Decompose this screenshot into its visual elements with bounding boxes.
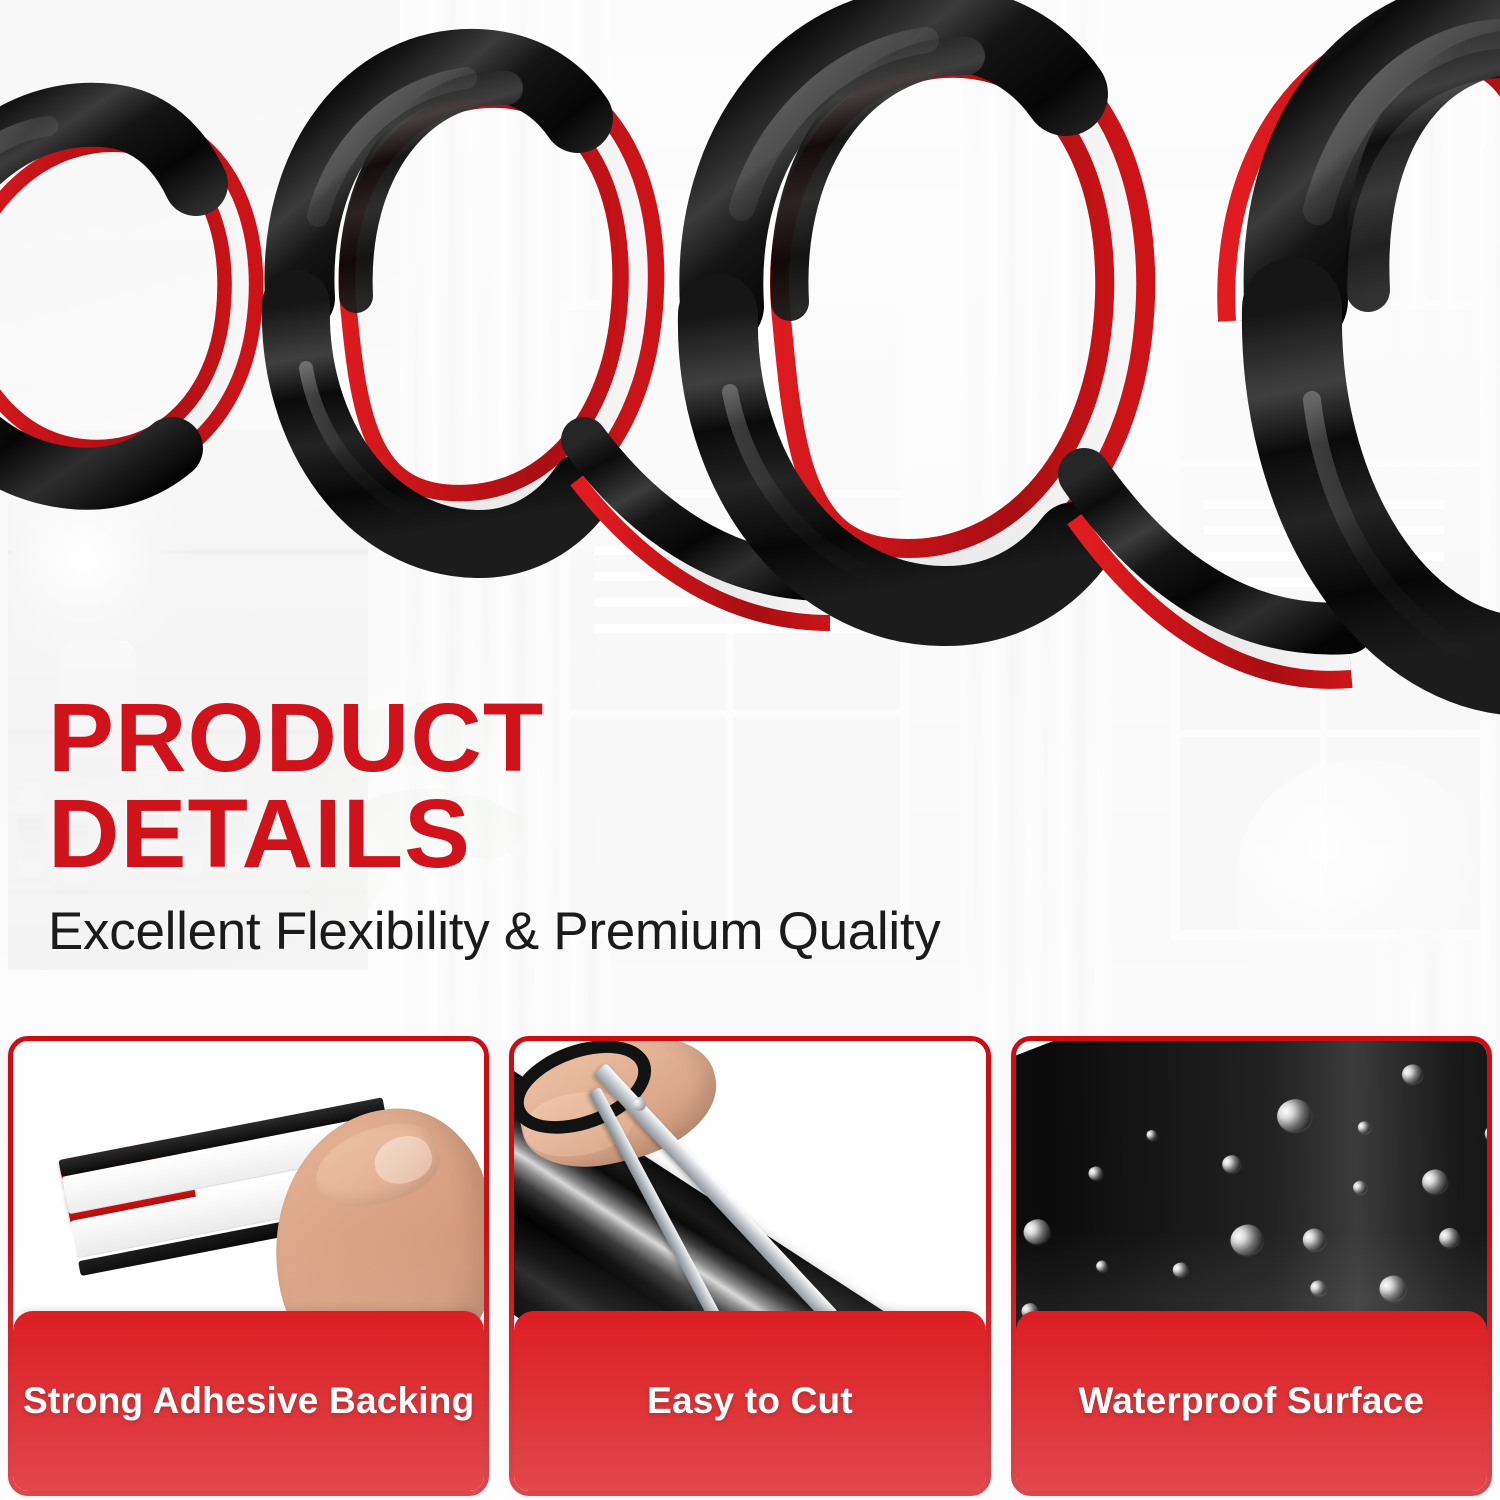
page-title: PRODUCT DETAILS (48, 690, 1252, 882)
water-droplet (1219, 1153, 1242, 1175)
water-droplet (1020, 1216, 1053, 1248)
water-droplet (1145, 1129, 1158, 1142)
water-droplet (1436, 1225, 1461, 1250)
feature-panel-easy-to-cut: Easy to Cut (509, 1036, 990, 1496)
water-droplet (1308, 1278, 1327, 1297)
water-droplet (1482, 1123, 1487, 1144)
water-droplet (1272, 1095, 1315, 1137)
water-droplet (1376, 1272, 1409, 1305)
headline-block: PRODUCT DETAILS Excellent Flexibility & … (48, 690, 1228, 960)
water-droplet (1356, 1120, 1372, 1136)
tape-coil-4 (1245, 26, 1500, 666)
water-droplet (1418, 1166, 1450, 1197)
feature-caption-easy-to-cut: Easy to Cut (514, 1311, 985, 1491)
water-droplet (1094, 1259, 1108, 1273)
feature-panel-waterproof: Waterproof Surface (1011, 1036, 1492, 1496)
product-detail-image: PRODUCT DETAILS Excellent Flexibility & … (0, 0, 1500, 1500)
page-subtitle: Excellent Flexibility & Premium Quality (48, 904, 1228, 960)
water-droplet (1399, 1062, 1424, 1087)
water-droplet (1086, 1165, 1104, 1182)
water-droplet (1299, 1226, 1327, 1254)
page-title-line2: DETAILS (48, 786, 1252, 882)
tape-spiral-illustration (0, 0, 1500, 790)
water-droplet (1170, 1261, 1189, 1279)
product-tape-spiral (0, 0, 1500, 790)
feature-panels: Strong Adhesive Backing Easy to Cut (8, 1036, 1492, 1486)
feature-caption-adhesive: Strong Adhesive Backing (13, 1311, 484, 1491)
page-title-line1: PRODUCT (48, 683, 544, 792)
tape-coil-1 (0, 115, 240, 479)
feature-panel-adhesive: Strong Adhesive Backing (8, 1036, 489, 1496)
feature-caption-waterproof: Waterproof Surface (1016, 1311, 1487, 1491)
water-droplet (1351, 1179, 1368, 1196)
water-droplet (1226, 1220, 1267, 1259)
